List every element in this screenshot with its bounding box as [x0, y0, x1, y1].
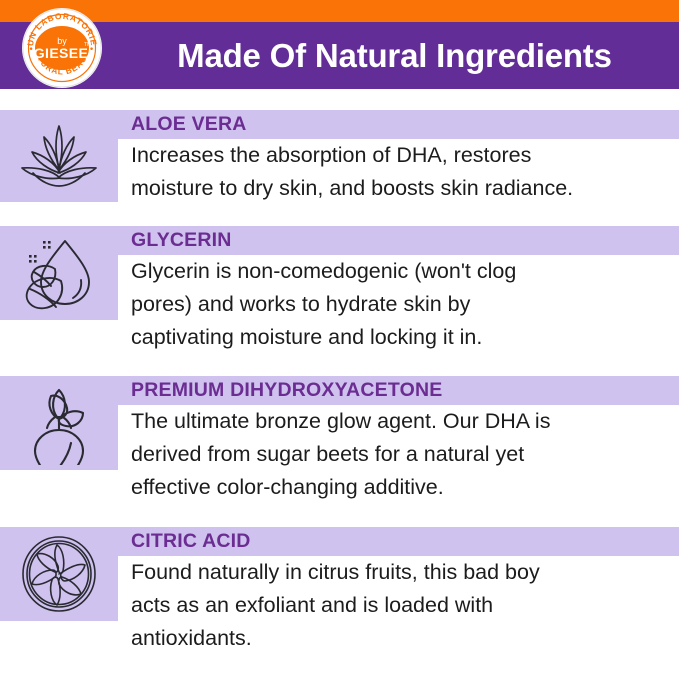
ingredient-title: PREMIUM DIHYDROXYACETONE [131, 376, 442, 405]
svg-text:TM: TM [84, 42, 91, 48]
ingredient-row-aloe-vera: ALOE VERA Increases the absorption of DH… [0, 110, 679, 202]
ingredient-row-glycerin: GLYCERIN Glycerin is non-comedogenic (wo… [0, 226, 679, 320]
ingredient-title: GLYCERIN [131, 226, 232, 255]
description-line: effective color-changing additive. [131, 471, 671, 504]
description-line: Increases the absorption of DHA, restore… [131, 139, 671, 172]
svg-text:•: • [30, 44, 33, 54]
description-line: Glycerin is non-comedogenic (won't clog [131, 255, 671, 288]
ingredient-row-citric-acid: CITRIC ACID Found naturally in citrus fr… [0, 527, 679, 621]
ingredient-description: The ultimate bronze glow agent. Our DHA … [131, 405, 671, 504]
page-title: Made Of Natural Ingredients [118, 22, 671, 89]
glycerin-droplet-leaves-icon [0, 226, 118, 320]
description-line: Found naturally in citrus fruits, this b… [131, 556, 671, 589]
description-line: derived from sugar beets for a natural y… [131, 438, 671, 471]
description-line: pores) and works to hydrate skin by [131, 288, 671, 321]
ingredient-title: ALOE VERA [131, 110, 247, 139]
ingredient-title: CITRIC ACID [131, 527, 251, 556]
description-line: acts as an exfoliant and is loaded with [131, 589, 671, 622]
header-banner: Made Of Natural Ingredients SUN LABORATO… [0, 0, 679, 89]
svg-text:GIESEE: GIESEE [34, 45, 89, 61]
ingredient-description: Increases the absorption of DHA, restore… [131, 139, 671, 205]
description-line: captivating moisture and locking it in. [131, 321, 671, 354]
ingredient-row-dihydroxyacetone: PREMIUM DIHYDROXYACETONE The ultimate br… [0, 376, 679, 470]
description-line: antioxidants. [131, 622, 671, 655]
description-line: The ultimate bronze glow agent. Our DHA … [131, 405, 671, 438]
ingredient-description: Found naturally in citrus fruits, this b… [131, 556, 671, 655]
ingredients-infographic: Made Of Natural Ingredients SUN LABORATO… [0, 0, 679, 679]
brand-logo-seal: SUN LABORATORIES NATURAL BEAUTY • • by G… [21, 7, 103, 89]
citrus-lemon-slice-icon [0, 527, 118, 621]
aloe-vera-plant-icon [0, 110, 118, 202]
description-line: moisture to dry skin, and boosts skin ra… [131, 172, 671, 205]
ingredient-description: Glycerin is non-comedogenic (won't clog … [131, 255, 671, 354]
sugar-beet-icon [0, 376, 118, 470]
